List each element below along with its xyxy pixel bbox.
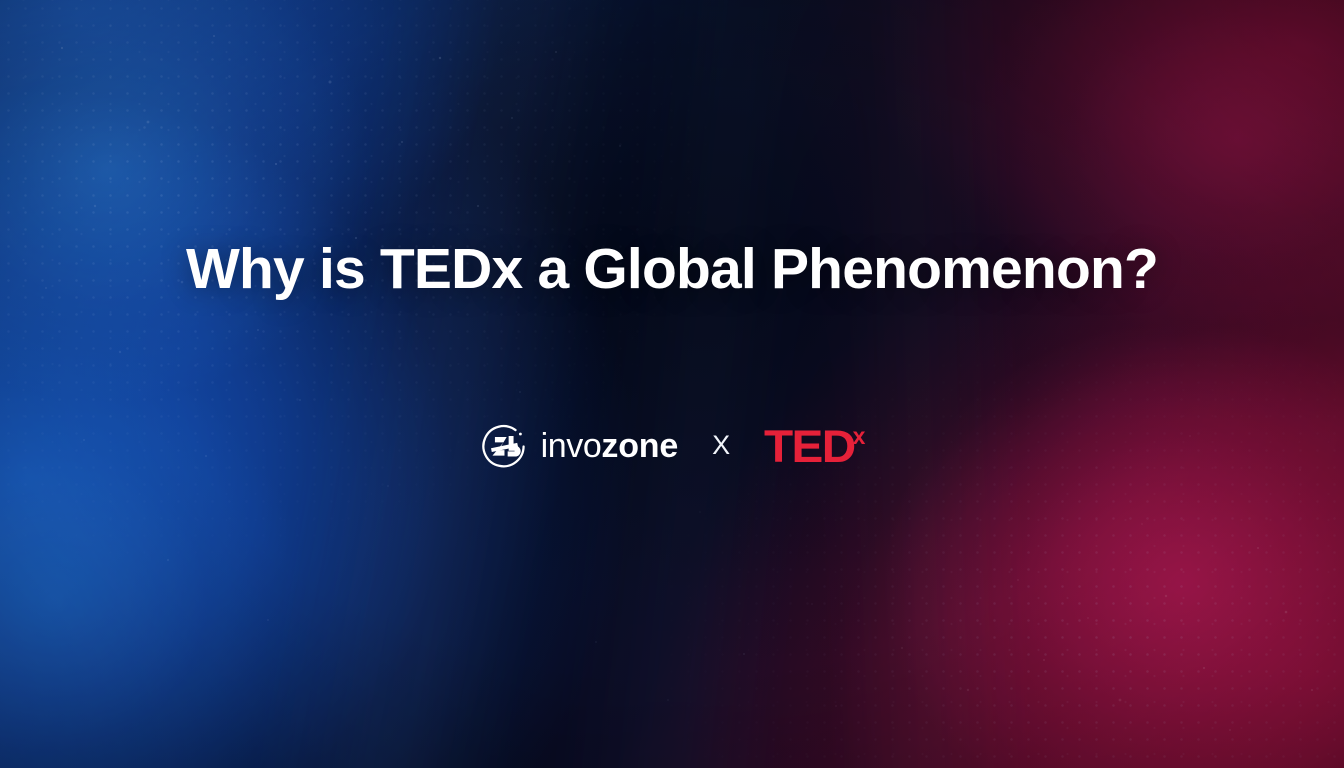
banner-content: Why is TEDx a Global Phenomenon? invoz — [0, 0, 1344, 768]
tedx-wordmark: TED — [764, 424, 855, 469]
logo-lockup-row: invozone X TED x — [479, 422, 866, 471]
tedx-event-banner: Why is TEDx a Global Phenomenon? invoz — [0, 0, 1344, 768]
invozone-wordmark-bold: zone — [601, 429, 678, 463]
invozone-wordmark-light: invo — [541, 429, 602, 463]
invozone-monogram-icon — [479, 422, 528, 471]
tedx-logo: TED x — [764, 424, 865, 469]
invozone-logo: invozone — [479, 422, 678, 471]
invozone-wordmark: invozone — [541, 429, 678, 463]
logo-separator-x: X — [712, 432, 730, 461]
page-title: Why is TEDx a Global Phenomenon? — [186, 239, 1158, 299]
